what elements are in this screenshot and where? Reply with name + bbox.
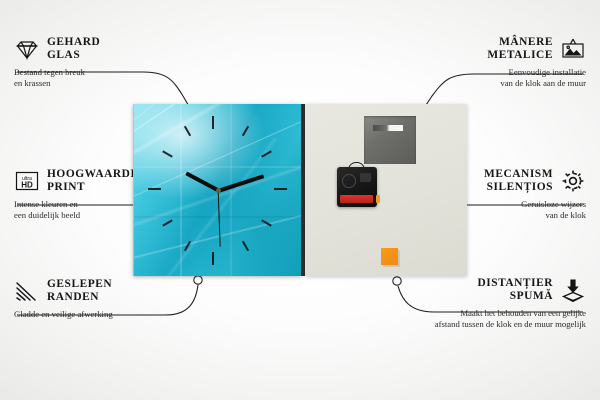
infographic-canvas: GEHARD GLAS Bestand tegen breuk en krass… (0, 0, 600, 400)
feature-header: MÂNERE METALICE (487, 36, 586, 63)
metal-hanger-plate (364, 116, 416, 164)
feature-description: Maakt het behouden van een gelijke afsta… (435, 308, 586, 330)
beveled-edges-icon (14, 278, 40, 304)
feature-gehard-glas: GEHARD GLAS Bestand tegen breuk en krass… (14, 36, 229, 89)
feature-title: GESLEPEN RANDEN (47, 278, 112, 305)
clock-tick-8 (162, 219, 173, 226)
feature-title: GEHARD GLAS (47, 36, 100, 63)
mechanism-chip (360, 173, 371, 182)
panel-seam (134, 166, 301, 168)
clock-tick-6 (212, 252, 214, 265)
svg-text:HD: HD (21, 181, 33, 190)
hanger-loop (348, 162, 365, 170)
hanger-slot (373, 125, 403, 131)
clock-tick-5 (242, 241, 249, 252)
diamond-icon (14, 36, 40, 62)
feature-description: Gladde en veilige afwerking (14, 309, 229, 320)
product-image (133, 104, 467, 276)
clock-tick-1 (242, 126, 249, 137)
battery-terminal (376, 195, 380, 203)
clock-mechanism-housing (337, 167, 377, 207)
panel-seam (134, 216, 301, 218)
clock-center-cap (216, 188, 221, 193)
clock-second-hand (217, 191, 220, 247)
gear-icon (560, 168, 586, 194)
feature-description: Eenvoudige installatie van de klok aan d… (500, 67, 586, 89)
mechanism-dial (342, 174, 356, 188)
aa-battery (340, 195, 373, 203)
feature-header: MECANISM SILENȚIOS (484, 168, 586, 195)
ultra-hd-icon: ultra HD (14, 168, 40, 194)
panel-seam (230, 104, 232, 276)
panel-seam (180, 104, 182, 276)
clock-hour-hand (185, 171, 219, 192)
orange-foam-spacer (381, 248, 398, 265)
clock-tick-9 (148, 188, 161, 190)
feature-header: GESLEPEN RANDEN (14, 278, 229, 305)
picture-frame-icon (560, 36, 586, 62)
feature-title: MÂNERE METALICE (487, 36, 553, 63)
clock-tick-10 (162, 150, 173, 157)
feature-title: MECANISM SILENȚIOS (484, 168, 553, 195)
feature-description: Bestand tegen breuk en krassen (14, 67, 229, 89)
clock-tick-3 (274, 188, 287, 190)
feature-title: DISTANȚIER SPUMĂ (477, 277, 553, 304)
feature-distantier-spuma: DISTANȚIER SPUMĂ Maakt het behouden van … (371, 277, 586, 330)
clock-tick-11 (184, 126, 191, 137)
spacer-arrow-icon (560, 277, 586, 303)
feature-header: DISTANȚIER SPUMĂ (477, 277, 586, 304)
turquoise-feather-wall-clock-front (133, 104, 301, 276)
wall-clock-back-panel (305, 104, 467, 276)
clock-tick-12 (212, 116, 214, 129)
feature-manere-metalice: MÂNERE METALICE Eenvoudige installatie v… (371, 36, 586, 89)
feature-header: GEHARD GLAS (14, 36, 229, 63)
feature-geslepen-randen: GESLEPEN RANDEN Gladde en veilige afwerk… (14, 278, 229, 320)
feature-description: Geruisloze wijzers van de klok (521, 199, 586, 221)
feather-streak (134, 104, 280, 121)
